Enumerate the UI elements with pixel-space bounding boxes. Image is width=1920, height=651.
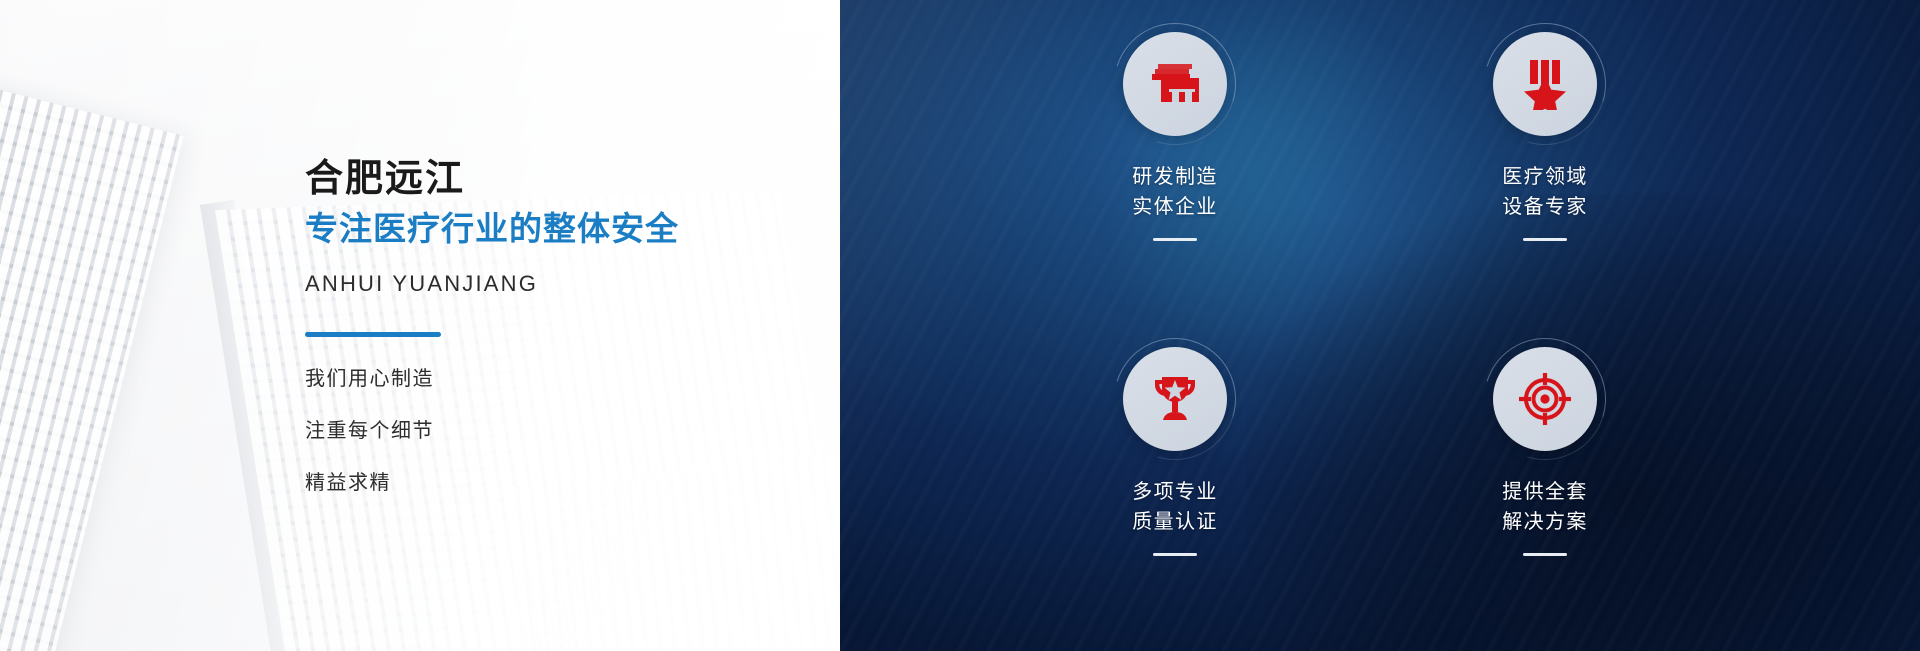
feature-item-full-solutions[interactable]: 提供全套 解决方案 (1360, 333, 1730, 634)
trophy-icon (1149, 374, 1201, 424)
caption-line-1: 研发制造 (1132, 162, 1218, 192)
caption-line-1: 医疗领域 (1502, 162, 1588, 192)
right-features-panel: 研发制造 实体企业 (840, 0, 1920, 651)
feature-item-medical-expert[interactable]: 医疗领域 设备专家 (1360, 32, 1730, 333)
feature-caption: 提供全套 解决方案 (1502, 477, 1588, 537)
feature-text-list: 我们用心制造 注重每个细节 精益求精 (305, 369, 825, 493)
company-tagline: 专注医疗行业的整体安全 (305, 208, 825, 249)
company-name-pinyin: ANHUI YUANJIANG (305, 271, 825, 297)
caption-line-2: 解决方案 (1502, 507, 1588, 537)
hero-text-block: 合肥远江 专注医疗行业的整体安全 ANHUI YUANJIANG 我们用心制造 … (305, 0, 825, 651)
icon-wrapper (1123, 347, 1227, 451)
icon-circle-background (1493, 32, 1597, 136)
caption-line-1: 多项专业 (1132, 477, 1218, 507)
feature-line: 精益求精 (305, 473, 825, 493)
feature-caption: 研发制造 实体企业 (1132, 162, 1218, 222)
icon-circle-background (1123, 32, 1227, 136)
caption-line-1: 提供全套 (1502, 477, 1588, 507)
caption-underline (1523, 238, 1567, 241)
company-name-heading: 合肥远江 (305, 158, 825, 202)
target-icon (1518, 372, 1572, 426)
left-hero-panel: 合肥远江 专注医疗行业的整体安全 ANHUI YUANJIANG 我们用心制造 … (0, 0, 840, 651)
caption-line-2: 设备专家 (1502, 192, 1588, 222)
feature-grid: 研发制造 实体企业 (840, 0, 1920, 651)
promo-banner: 合肥远江 专注医疗行业的整体安全 ANHUI YUANJIANG 我们用心制造 … (0, 0, 1920, 651)
icon-wrapper (1123, 32, 1227, 136)
caption-underline (1153, 238, 1197, 241)
feature-line: 我们用心制造 (305, 369, 825, 389)
icon-circle-background (1493, 347, 1597, 451)
caption-line-2: 实体企业 (1132, 192, 1218, 222)
accent-divider (305, 332, 441, 337)
factory-icon (1148, 62, 1202, 106)
feature-item-rd-manufacturing[interactable]: 研发制造 实体企业 (990, 32, 1360, 333)
icon-circle-background (1123, 347, 1227, 451)
feature-item-quality-certifications[interactable]: 多项专业 质量认证 (990, 333, 1360, 634)
caption-line-2: 质量认证 (1132, 507, 1218, 537)
medal-star-icon (1522, 58, 1568, 110)
caption-underline (1523, 553, 1567, 556)
feature-caption: 医疗领域 设备专家 (1502, 162, 1588, 222)
feature-line: 注重每个细节 (305, 421, 825, 441)
icon-wrapper (1493, 347, 1597, 451)
icon-wrapper (1493, 32, 1597, 136)
feature-caption: 多项专业 质量认证 (1132, 477, 1218, 537)
caption-underline (1153, 553, 1197, 556)
